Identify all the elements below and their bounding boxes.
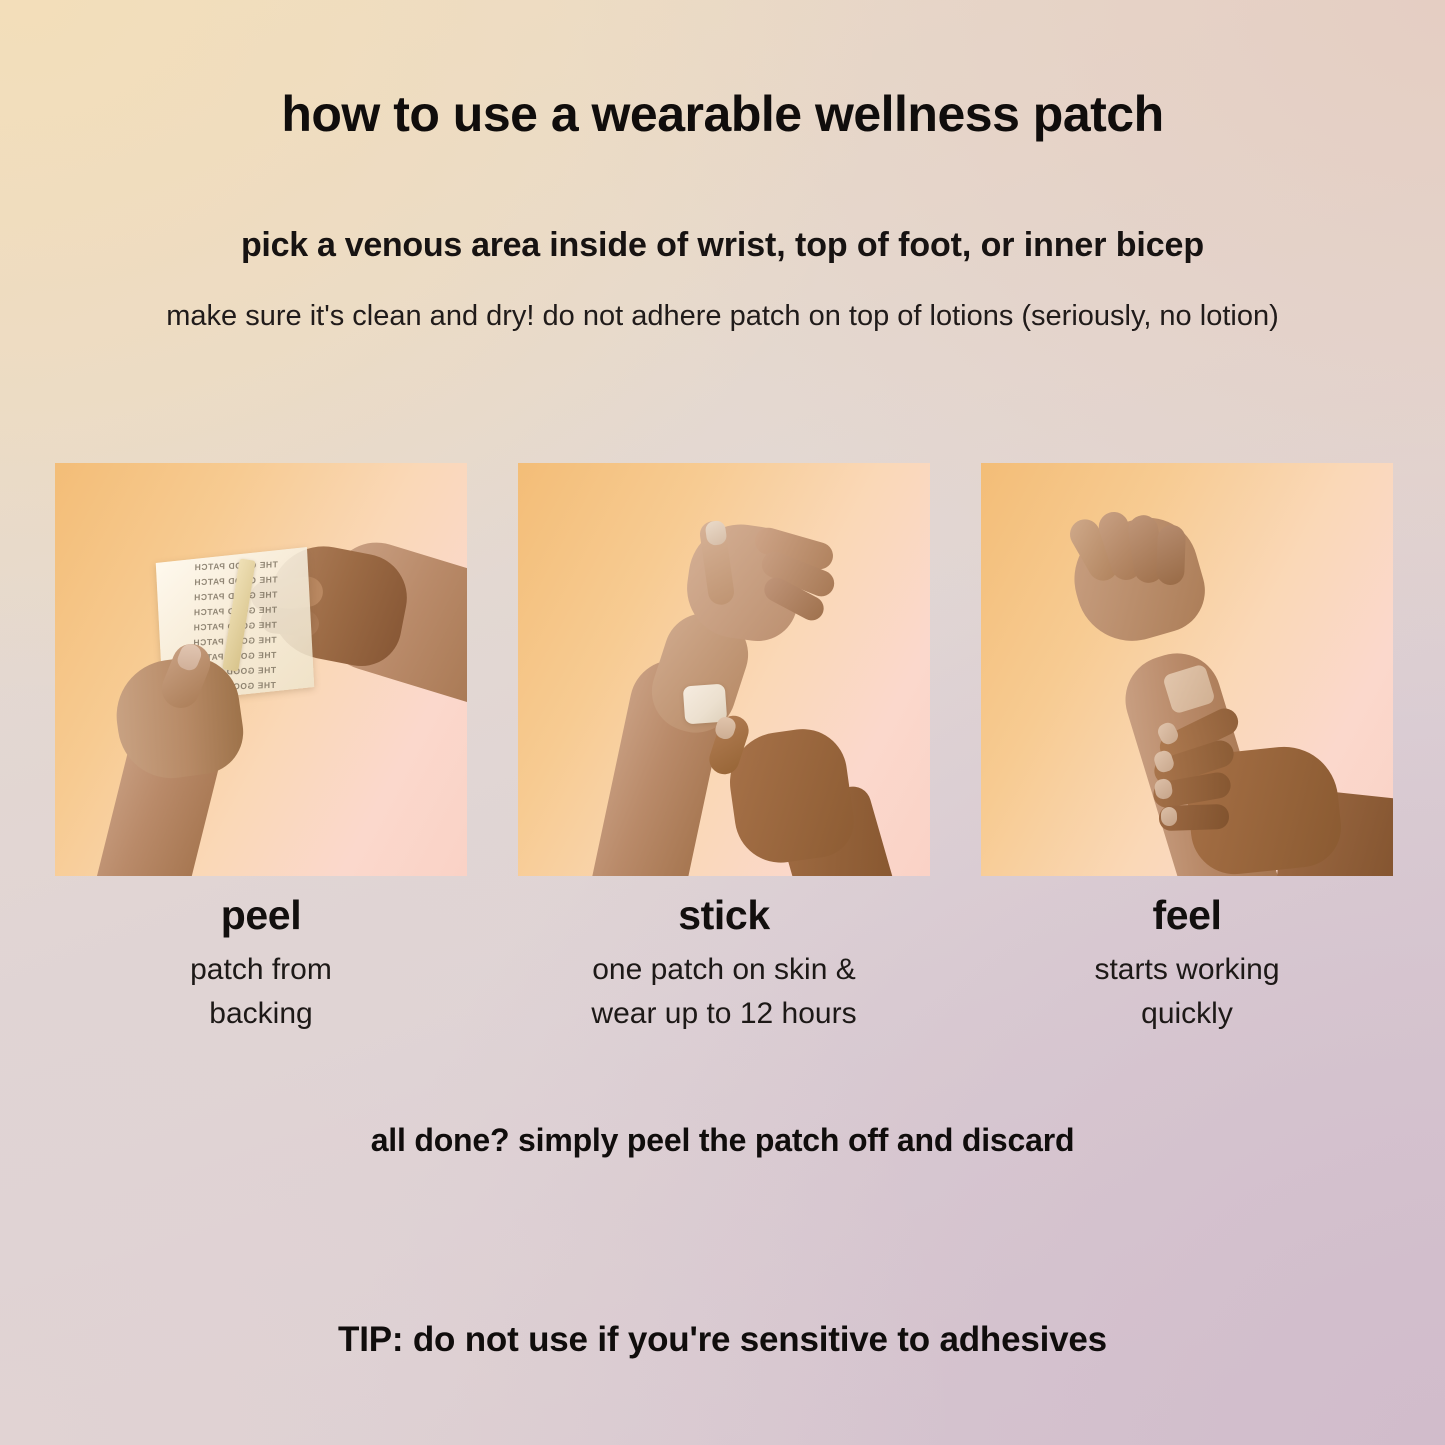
step-label: stick xyxy=(518,893,930,938)
lead-note: make sure it's clean and dry! do not adh… xyxy=(98,296,1348,337)
step-image-peel: THE GOOD PATCH THE GOOD PATCH THE GOOD P… xyxy=(55,463,467,876)
left-little-finger xyxy=(1156,525,1186,586)
step-image-stick xyxy=(518,463,930,876)
lead-rest: inside of wrist, top of foot, or inner b… xyxy=(540,226,1204,264)
step-label: peel xyxy=(55,893,467,938)
step-caption-feel: feel starts working quickly xyxy=(981,893,1393,1035)
right-little-nail xyxy=(1161,807,1178,827)
step-caption-peel: peel patch from backing xyxy=(55,893,467,1035)
all-done-line: all done? simply peel the patch off and … xyxy=(0,1122,1445,1159)
step-caption-row: peel patch from backing stick one patch … xyxy=(55,893,1393,1035)
step-caption-stick: stick one patch on skin & wear up to 12 … xyxy=(518,893,930,1035)
lead-line: pick a venous area inside of wrist, top … xyxy=(0,226,1445,265)
step-image-row: THE GOOD PATCH THE GOOD PATCH THE GOOD P… xyxy=(55,463,1393,876)
step-description: patch from backing xyxy=(55,948,467,1035)
lead-strong: pick a venous area xyxy=(241,226,540,264)
instruction-graphic: how to use a wearable wellness patch pic… xyxy=(0,0,1445,1445)
step-description: starts working quickly xyxy=(981,948,1393,1035)
step-description: one patch on skin & wear up to 12 hours xyxy=(518,948,930,1035)
step-label: feel xyxy=(981,893,1393,938)
tip-line: TIP: do not use if you're sensitive to a… xyxy=(0,1320,1445,1360)
page-title: how to use a wearable wellness patch xyxy=(0,88,1445,141)
step-image-feel xyxy=(981,463,1393,876)
